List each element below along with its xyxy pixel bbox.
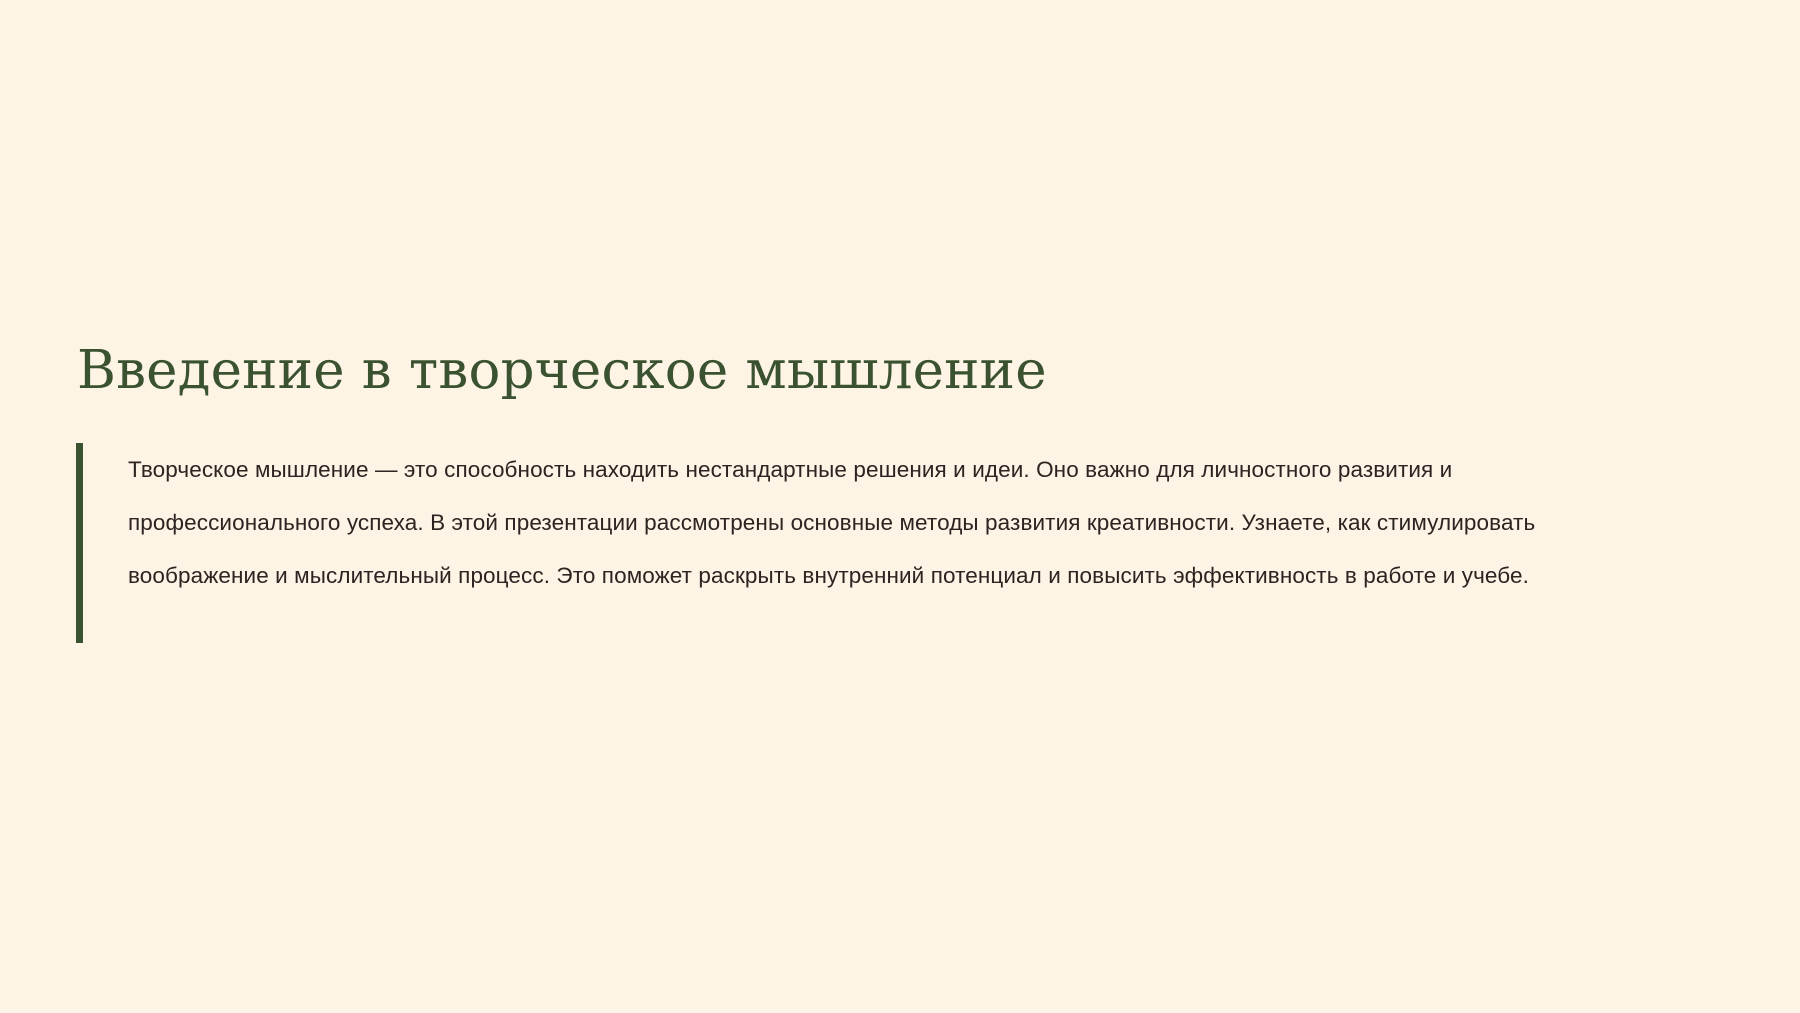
accent-bar [76, 443, 83, 643]
slide-content: Введение в творческое мышление Творческо… [76, 340, 1676, 643]
body-block: Творческое мышление — это способность на… [76, 443, 1676, 643]
body-paragraph: Творческое мышление — это способность на… [128, 443, 1628, 602]
presentation-slide: Введение в творческое мышление Творческо… [0, 0, 1800, 1013]
page-title: Введение в творческое мышление [76, 340, 1676, 403]
